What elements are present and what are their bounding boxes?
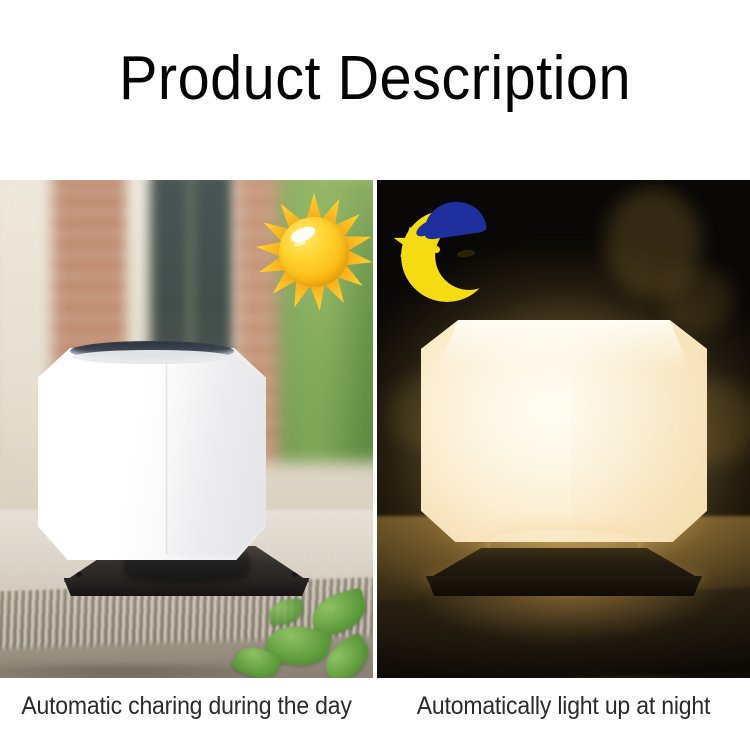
solar-lamp-unlit bbox=[38, 348, 266, 560]
base-screw-right bbox=[292, 572, 298, 577]
panel-day bbox=[0, 180, 373, 678]
lamp-base-edge-night bbox=[426, 576, 702, 596]
product-description-page: Product Description bbox=[0, 0, 750, 750]
day-photo bbox=[0, 180, 373, 678]
caption-row: Automatic charing during the day Automat… bbox=[0, 678, 750, 750]
lamp-shade-top-glow bbox=[438, 320, 690, 369]
night-photo bbox=[377, 180, 750, 678]
lamp-base-plate-night bbox=[426, 548, 702, 598]
lamp-shade-facet bbox=[166, 352, 266, 556]
caption-night: Automatically light up at night bbox=[392, 686, 735, 726]
star-dot-icon bbox=[433, 246, 440, 253]
caption-day: Automatic charing during the day bbox=[15, 686, 358, 726]
moon-icon bbox=[395, 198, 505, 308]
title-bar: Product Description bbox=[0, 0, 750, 180]
panel-night bbox=[377, 180, 750, 678]
panel-row bbox=[0, 180, 750, 678]
solar-panel-rim bbox=[72, 350, 232, 364]
lamp-base-shadow bbox=[0, 666, 254, 678]
star-dot-icon bbox=[413, 264, 419, 270]
pillar-cap-edge-night bbox=[377, 586, 750, 678]
solar-lamp-lit bbox=[421, 320, 707, 542]
base-screw-left bbox=[76, 572, 82, 577]
sun-icon bbox=[258, 196, 370, 308]
lamp-base-top-night bbox=[426, 548, 702, 580]
page-title: Product Description bbox=[26, 44, 724, 114]
foreground-leaves bbox=[233, 582, 373, 678]
lamp-shade-edge bbox=[166, 354, 167, 553]
leaf-icon bbox=[268, 598, 304, 625]
